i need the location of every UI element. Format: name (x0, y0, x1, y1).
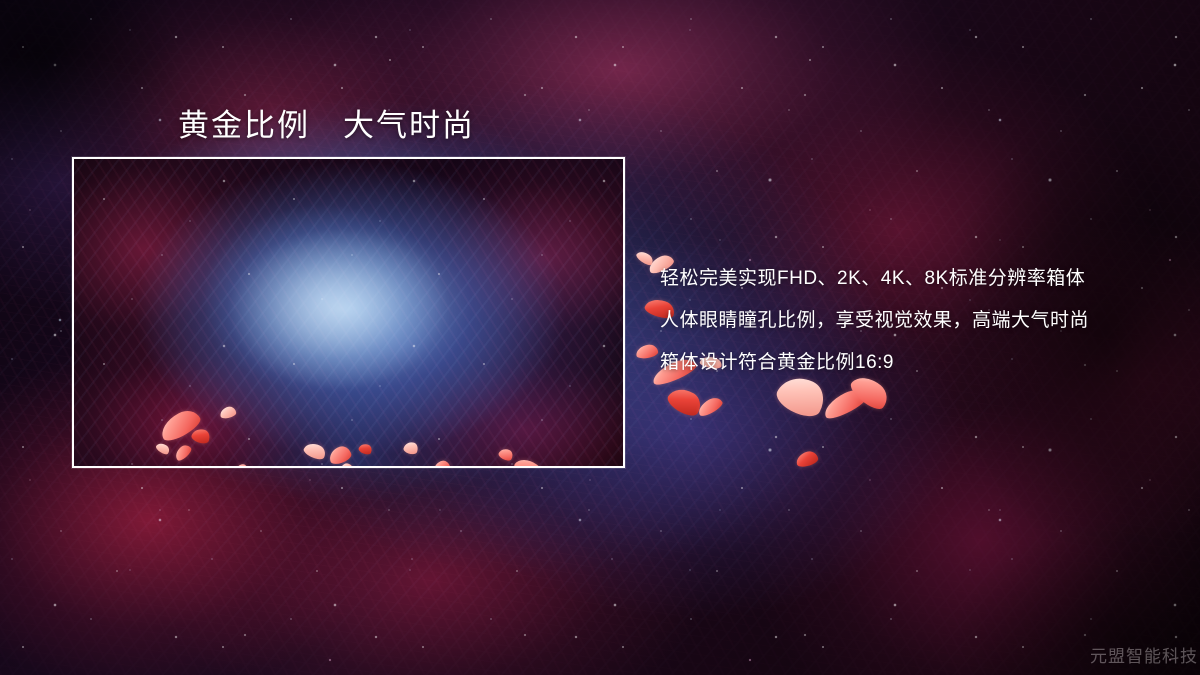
rose-petal (795, 450, 820, 469)
framed-starfield (74, 159, 623, 466)
body-line-2: 人体眼睛瞳孔比例，享受视觉效果，高端大气时尚 (660, 300, 1180, 342)
photo-frame-content (74, 159, 623, 466)
rose-petal (155, 441, 172, 456)
rose-petal (327, 444, 353, 466)
rose-petal (664, 383, 705, 421)
rose-petal (402, 440, 419, 456)
body-line-1: 轻松完美实现FHD、2K、4K、8K标准分辨率箱体 (660, 258, 1180, 300)
rose-petal (233, 463, 250, 466)
rose-petal (695, 395, 724, 419)
rose-petals-framed (74, 159, 623, 466)
rose-petal (497, 446, 515, 462)
rose-petal (635, 344, 659, 360)
body-text-block: 轻松完美实现FHD、2K、4K、8K标准分辨率箱体 人体眼睛瞳孔比例，享受视觉效… (660, 258, 1180, 384)
page-title: 黄金比例 大气时尚 (178, 100, 475, 145)
rose-petal (173, 443, 194, 463)
body-line-3: 箱体设计符合黄金比例16:9 (660, 342, 1180, 384)
rose-petal (433, 459, 451, 466)
rose-petal (635, 249, 655, 268)
rose-petal (512, 454, 547, 466)
rose-petal (358, 442, 374, 456)
photo-frame-16-9 (72, 157, 625, 468)
rose-petal (337, 461, 355, 466)
framed-nebula-image (74, 159, 623, 466)
framed-nebula-filaments (74, 159, 623, 466)
rose-petal (820, 385, 870, 422)
rose-petal (219, 405, 237, 419)
presentation-slide: 黄金比例 大气时尚 轻松完美实现FHD、2K、4K、8K标准分辨率箱体 人体眼睛… (0, 0, 1200, 675)
rose-petal (190, 426, 212, 445)
watermark: 元盟智能科技 (1090, 642, 1198, 667)
framed-nebula-core-glow (74, 159, 623, 466)
rose-petal (156, 405, 203, 444)
rose-petal (302, 440, 328, 462)
